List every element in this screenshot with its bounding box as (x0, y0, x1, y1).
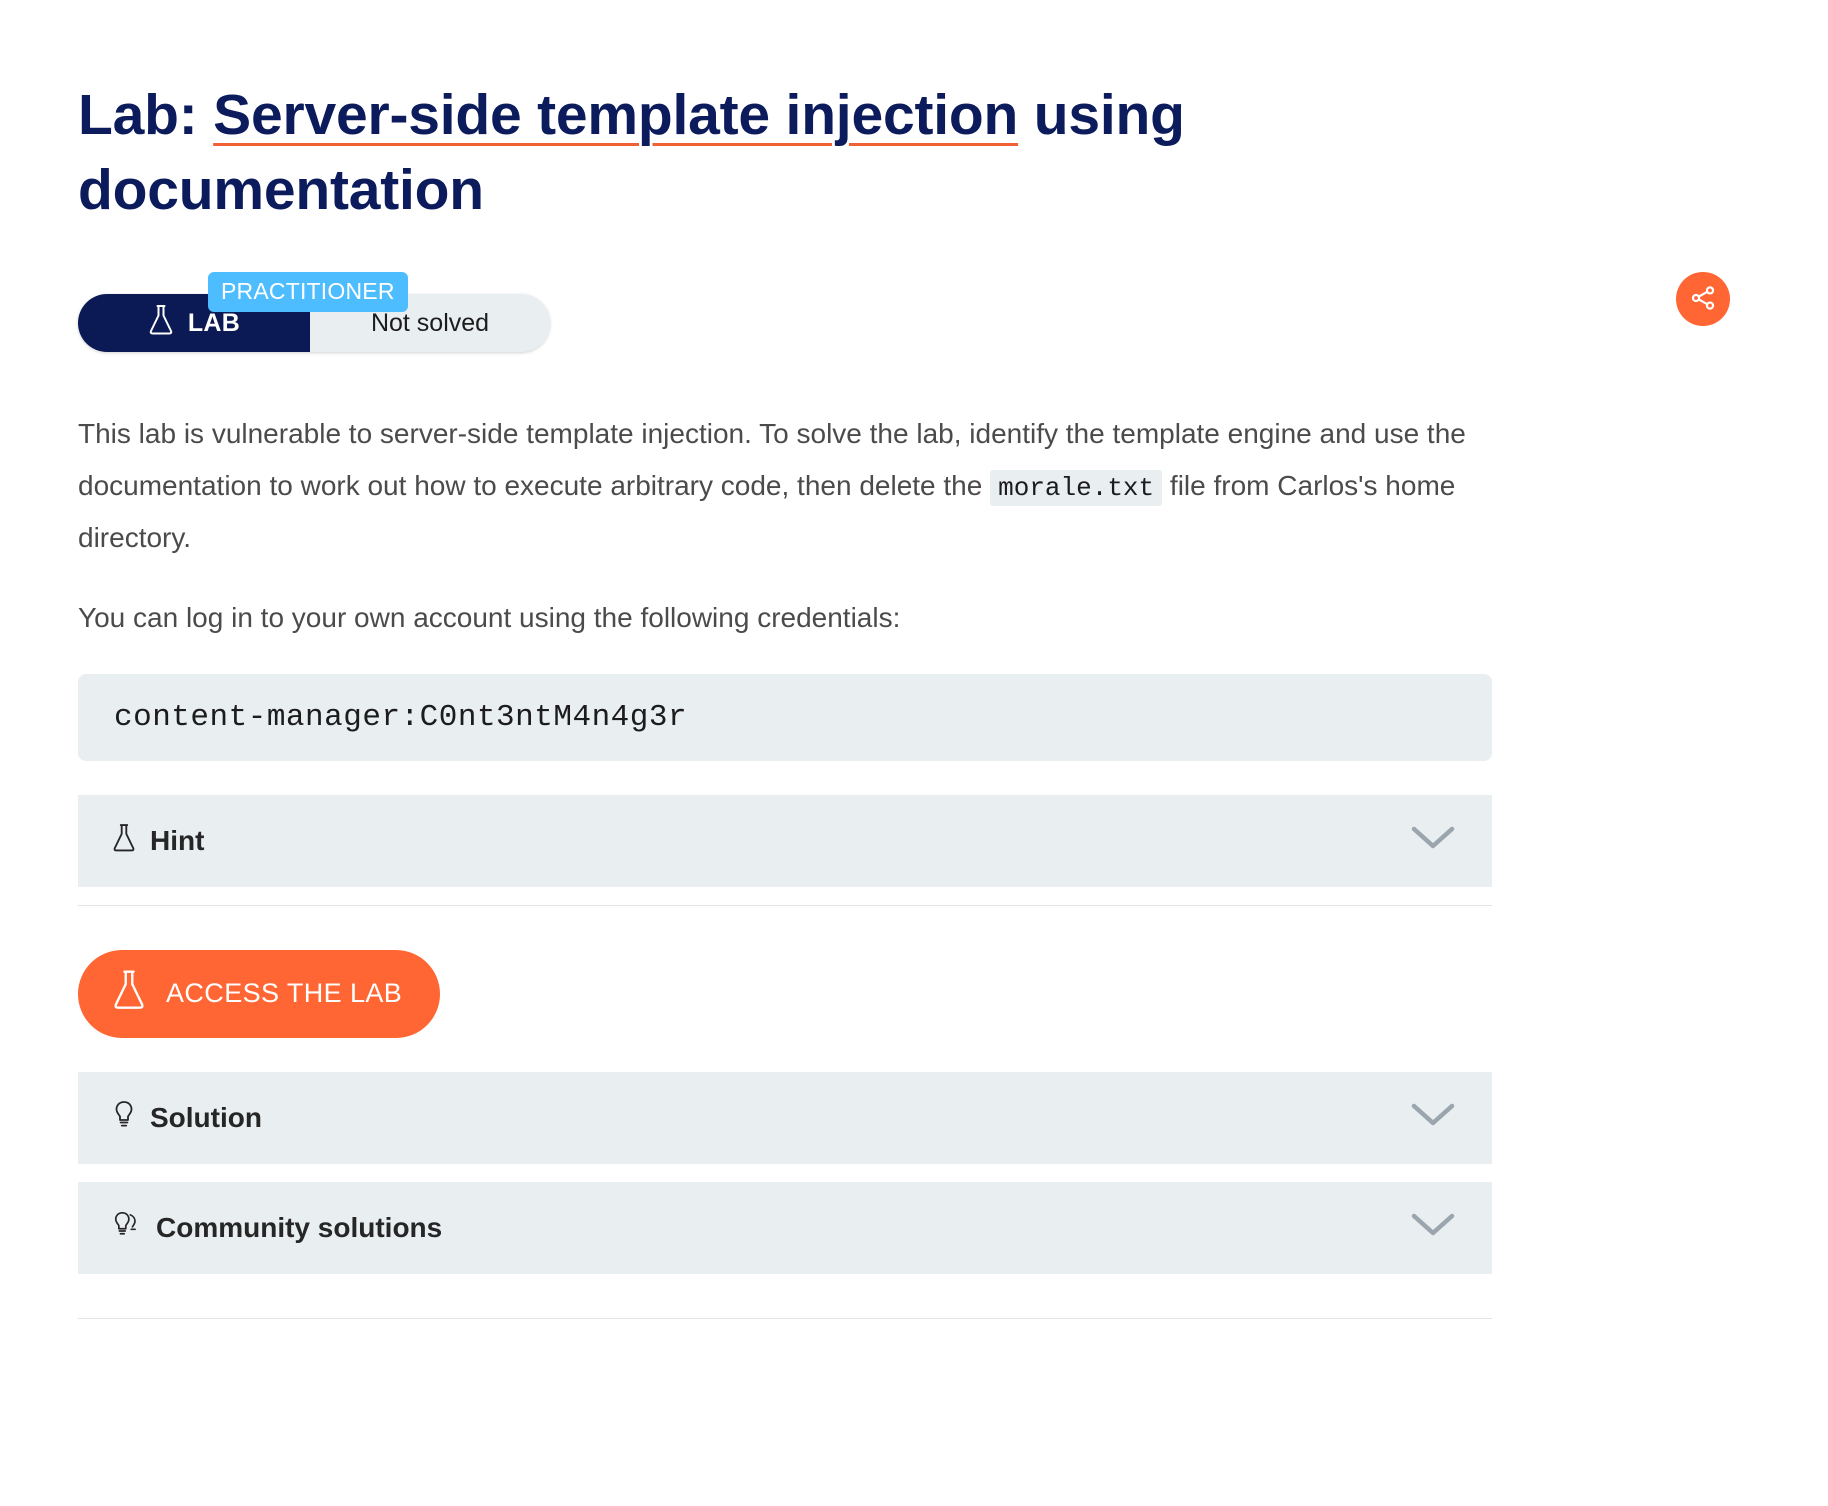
lab-page: Lab: Server-side template injection usin… (0, 0, 1828, 1506)
chevron-down-icon[interactable] (1410, 1211, 1456, 1244)
lightbulb-icon (112, 1100, 136, 1135)
share-button[interactable] (1676, 272, 1730, 326)
chevron-down-icon[interactable] (1410, 1101, 1456, 1134)
title-prefix: Lab: (78, 83, 213, 147)
flask-icon (112, 823, 136, 858)
title-underlined-part: Server-side template injection (213, 83, 1018, 147)
accordion-community-solutions[interactable]: Community solutions (78, 1182, 1492, 1274)
flask-icon (112, 969, 146, 1018)
status-row: PRACTITIONER LAB Not solved (78, 272, 1758, 352)
lab-description-paragraph-2: You can log in to your own account using… (78, 592, 1538, 644)
spacer (78, 887, 1758, 905)
accordion-community-solutions-label: Community solutions (156, 1212, 442, 1244)
double-lightbulb-icon (112, 1210, 142, 1245)
lab-content-container: Lab: Server-side template injection usin… (78, 0, 1758, 1319)
accordion-solution-label: Solution (150, 1102, 262, 1134)
accordion-hint-left: Hint (112, 823, 204, 858)
credentials-code-block[interactable]: content-manager:C0nt3ntM4n4g3r (78, 674, 1492, 761)
lab-description-paragraph-1: This lab is vulnerable to server-side te… (78, 408, 1538, 564)
access-the-lab-button[interactable]: ACCESS THE LAB (78, 950, 440, 1038)
spacer (78, 1164, 1758, 1182)
chevron-down-icon[interactable] (1410, 824, 1456, 857)
divider (78, 1318, 1492, 1319)
accordion-solution[interactable]: Solution (78, 1072, 1492, 1164)
share-icon (1689, 284, 1717, 315)
divider (78, 905, 1492, 906)
spacer (78, 1038, 1758, 1072)
accordion-hint-label: Hint (150, 825, 204, 857)
accordion-community-solutions-left: Community solutions (112, 1210, 442, 1245)
access-the-lab-label: ACCESS THE LAB (166, 978, 402, 1009)
spacer (78, 761, 1758, 795)
page-title: Lab: Server-side template injection usin… (78, 0, 1378, 228)
accordion-solution-left: Solution (112, 1100, 262, 1135)
inline-code-morale-txt: morale.txt (990, 470, 1162, 506)
status-badge-difficulty: PRACTITIONER (208, 272, 408, 312)
lab-widget-label: LAB (188, 309, 240, 338)
accordion-hint[interactable]: Hint (78, 795, 1492, 887)
flask-icon (148, 304, 174, 343)
